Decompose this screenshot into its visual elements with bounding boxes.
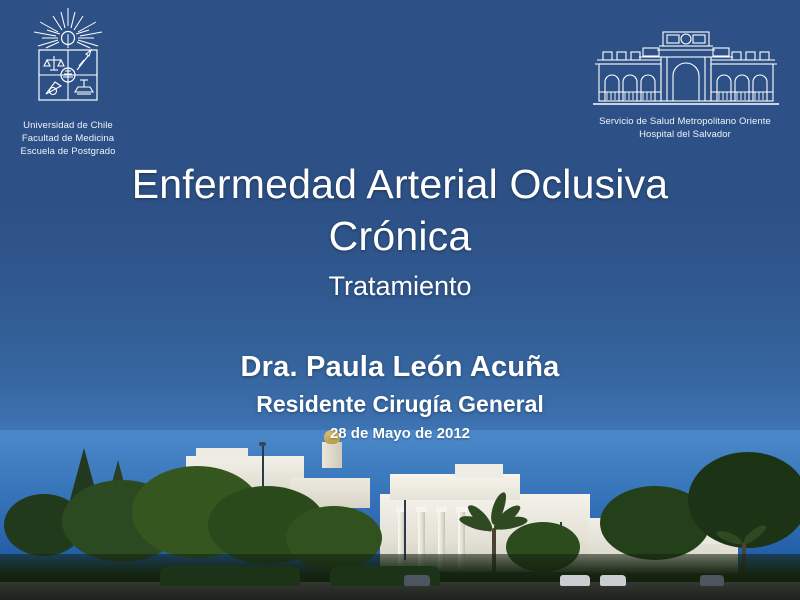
title-group: Enfermedad Arterial Oclusiva Crónica Tra… — [0, 158, 800, 302]
photo-dome-base — [322, 442, 342, 468]
photo-vehicle — [700, 575, 724, 586]
photo-vehicle — [560, 575, 590, 586]
campus-photograph — [0, 430, 800, 600]
slide-title: Enfermedad Arterial Oclusiva Crónica — [0, 158, 800, 262]
photo-lamp-post — [404, 500, 406, 560]
author-role: Residente Cirugía General — [0, 390, 800, 418]
photo-column-capital — [416, 507, 427, 512]
author-group: Dra. Paula León Acuña Residente Cirugía … — [0, 348, 800, 443]
photo-tree-canopy — [688, 452, 800, 548]
photo-main-building-attic — [455, 464, 503, 478]
author-name: Dra. Paula León Acuña — [0, 348, 800, 386]
photo-vehicle — [600, 575, 626, 586]
photo-column-capital — [456, 507, 467, 512]
photo-vehicle — [404, 575, 430, 586]
logo-left-caption-line2: Facultad de Medicina — [8, 132, 128, 145]
hospital-del-salvador-logo: Servicio de Salud Metropolitano Oriente … — [580, 26, 790, 141]
presentation-title-slide: Universidad de Chile Facultad de Medicin… — [0, 0, 800, 600]
presentation-date: 28 de Mayo de 2012 — [0, 424, 800, 443]
universidad-de-chile-shield-icon — [20, 4, 116, 112]
logo-left-caption-line1: Universidad de Chile — [8, 119, 128, 132]
logo-right-caption-line2: Hospital del Salvador — [580, 129, 790, 142]
logo-right-caption-line1: Servicio de Salud Metropolitano Oriente — [580, 116, 790, 129]
slide-subtitle: Tratamiento — [0, 270, 800, 302]
hospital-building-facade-icon — [587, 26, 783, 108]
photo-column-capital — [436, 507, 447, 512]
photo-far-building-upper — [196, 448, 248, 460]
logo-left-caption-line3: Escuela de Postgrado — [8, 145, 128, 158]
photo-hedge — [160, 566, 300, 586]
universidad-de-chile-logo: Universidad de Chile Facultad de Medicin… — [8, 4, 128, 158]
